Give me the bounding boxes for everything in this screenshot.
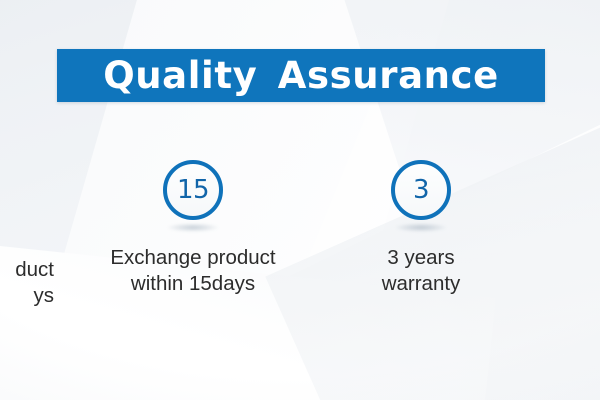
title-banner: Quality Assurance	[57, 49, 545, 102]
badge-number: 3	[413, 177, 429, 203]
feature-caption: Exchange product within 15days	[73, 245, 313, 297]
badge-number: 15	[177, 177, 209, 203]
quality-assurance-banner: Quality Assurance 15 Exchange product wi…	[0, 0, 600, 400]
badge-shadow	[395, 223, 447, 232]
badge-wrapper: 15	[159, 160, 227, 232]
circle-badge-icon: 15	[163, 160, 223, 220]
clipped-caption-right: m	[543, 257, 600, 309]
badge-shadow	[167, 223, 219, 232]
page-title: Quality Assurance	[103, 57, 499, 94]
feature-item-warranty: 3 3 years warranty	[301, 160, 541, 297]
badge-wrapper: 3	[387, 160, 455, 232]
clipped-caption-left: duct ys	[0, 257, 54, 309]
circle-badge-icon: 3	[391, 160, 451, 220]
feature-caption: 3 years warranty	[301, 245, 541, 297]
feature-item-exchange: 15 Exchange product within 15days	[73, 160, 313, 297]
feature-list: 15 Exchange product within 15days 3 3 ye…	[0, 160, 600, 320]
